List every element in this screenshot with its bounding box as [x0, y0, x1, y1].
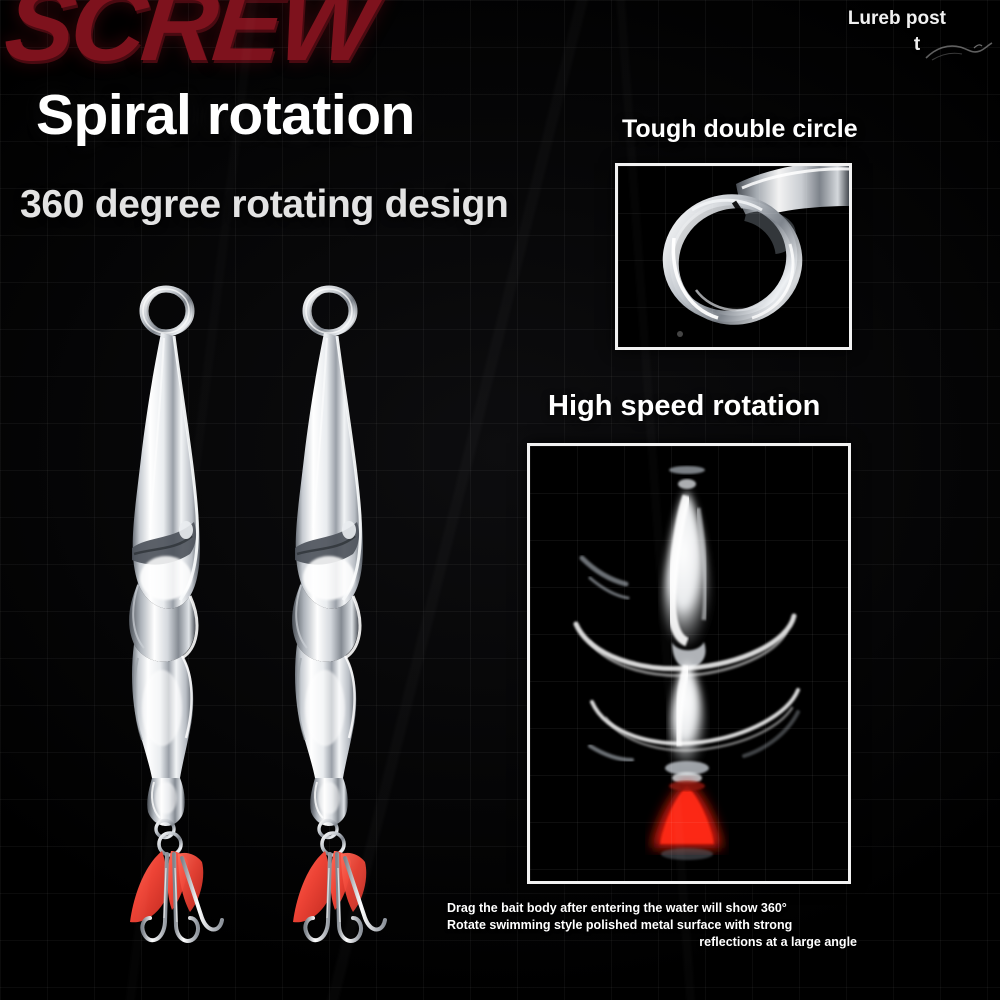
panel-high-speed-rotation — [527, 443, 851, 884]
caption-line-3: reflections at a large angle — [447, 934, 857, 951]
product-description-caption: Drag the bait body after entering the wa… — [447, 900, 857, 951]
tail-fin — [310, 778, 348, 826]
page-title: Spiral rotation — [36, 82, 415, 148]
panel-tough-double-circle — [615, 163, 852, 350]
product-lure-2 — [261, 278, 411, 958]
spiral-chrome-body — [292, 333, 363, 778]
panel-grid — [530, 446, 848, 881]
hook-assembly — [293, 821, 385, 941]
spiral-chrome-body — [129, 333, 200, 778]
caption-line-1: Drag the bait body after entering the wa… — [447, 900, 857, 917]
split-ring — [143, 289, 192, 333]
product-lure-1 — [98, 278, 248, 958]
product-marketing-banner: SCREW Lureb post t Spiral rotation 360 d… — [0, 0, 1000, 1000]
panel-title-high-speed-rotation: High speed rotation — [548, 390, 820, 423]
brand-line-1: Lureb post — [848, 8, 946, 29]
tail-fin — [147, 778, 185, 826]
page-subtitle: 360 degree rotating design — [20, 183, 509, 227]
split-ring — [306, 289, 355, 333]
panel-title-tough-double-circle: Tough double circle — [622, 115, 858, 144]
screw-watermark-text: SCREW — [0, 0, 379, 85]
caption-line-2: Rotate swimming style polished metal sur… — [447, 917, 857, 934]
script-signature-icon — [922, 38, 996, 66]
panel-grid — [618, 166, 849, 347]
hook-assembly — [130, 821, 222, 941]
